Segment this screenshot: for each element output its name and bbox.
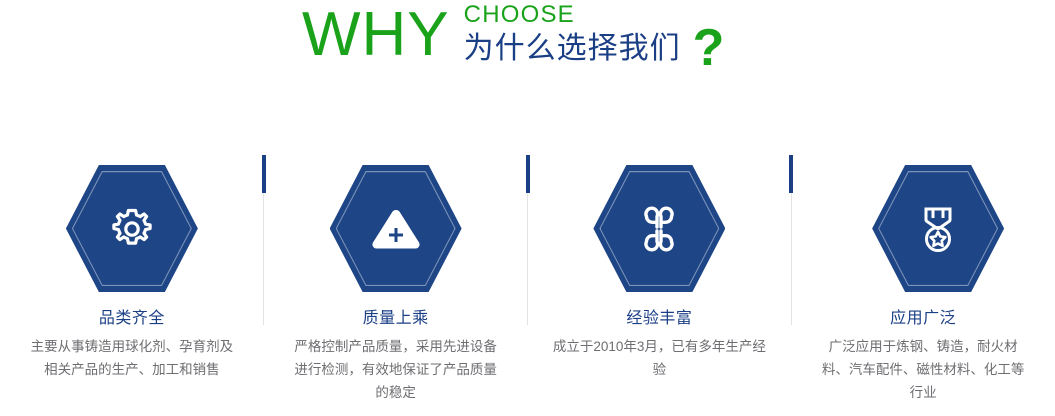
hexagon-badge-1: [66, 165, 198, 292]
triangle-plus-icon: [330, 165, 462, 292]
hexagon-badge-2: [330, 165, 462, 292]
four-petal-clover-icon: [593, 165, 725, 292]
feature-column-4: 应用广泛 广泛应用于炼钢、铸造，耐火材料、汽车配件、磁性材料、化工等行业: [791, 140, 1055, 416]
feature-title: 经验丰富: [626, 309, 692, 329]
heading-stack: CHOOSE 为什么选择我们: [464, 2, 681, 66]
heading-choose: CHOOSE: [464, 2, 681, 28]
feature-columns: 品类齐全 主要从事铸造用球化剂、孕育剂及相关产品的生产、加工和销售 质量上乘 严…: [0, 140, 1055, 416]
hexagon-badge-4: [872, 165, 1004, 292]
feature-body: 成立于2010年3月，已有多年生产经验: [552, 335, 767, 381]
section-heading: WHY CHOOSE 为什么选择我们 ?: [0, 0, 1055, 88]
feature-body: 严格控制产品质量，采用先进设备进行检测，有效地保证了产品质量的稳定: [288, 335, 503, 404]
feature-column-3: 经验丰富 成立于2010年3月，已有多年生产经验: [528, 140, 792, 416]
feature-title: 应用广泛: [890, 309, 956, 329]
heading-question-mark: ?: [693, 22, 725, 74]
feature-body: 广泛应用于炼钢、铸造，耐火材料、汽车配件、磁性材料、化工等行业: [821, 335, 1026, 404]
heading-inner: WHY CHOOSE 为什么选择我们 ?: [302, 0, 724, 74]
heading-chinese-title: 为什么选择我们: [464, 32, 681, 66]
heading-why: WHY: [302, 4, 450, 66]
feature-title: 质量上乘: [363, 309, 429, 329]
feature-column-1: 品类齐全 主要从事铸造用球化剂、孕育剂及相关产品的生产、加工和销售: [0, 140, 264, 416]
medal-icon: [872, 165, 1004, 292]
gear-icon: [66, 165, 198, 292]
feature-column-2: 质量上乘 严格控制产品质量，采用先进设备进行检测，有效地保证了产品质量的稳定: [264, 140, 528, 416]
feature-body: 主要从事铸造用球化剂、孕育剂及相关产品的生产、加工和销售: [24, 335, 239, 381]
hexagon-badge-3: [593, 165, 725, 292]
feature-title: 品类齐全: [99, 309, 165, 329]
